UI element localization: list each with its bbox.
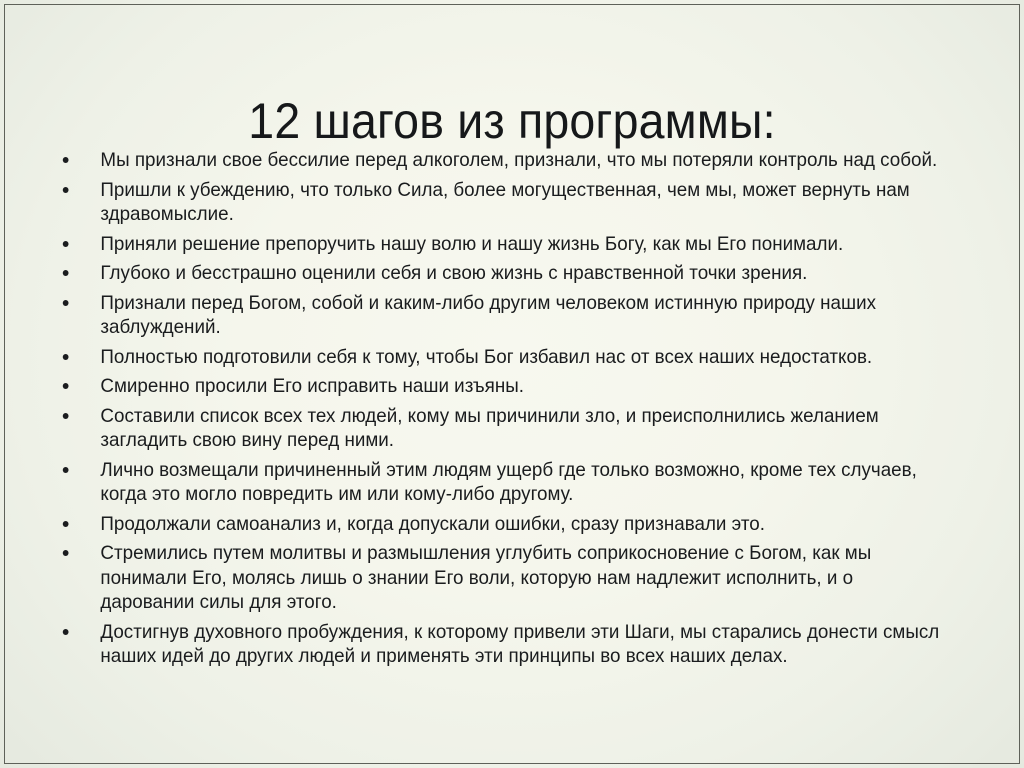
bullet-point-icon <box>63 241 69 247</box>
list-item-text: Лично возмещали причиненный этим людям у… <box>100 458 940 507</box>
list-item-text: Смиренно просили Его исправить наши изъя… <box>100 374 940 399</box>
bullet-point-icon <box>63 413 69 419</box>
list-item: Мы признали свое бессилие перед алкоголе… <box>56 148 940 173</box>
list-item: Полностью подготовили себя к тому, чтобы… <box>56 345 940 370</box>
list-item-text: Достигнув духовного пробуждения, к котор… <box>100 620 940 669</box>
list-item: Глубоко и бесстрашно оценили себя и свою… <box>56 261 940 286</box>
bullet-point-icon <box>63 187 69 193</box>
list-item: Стремились путем молитвы и размышления у… <box>56 541 940 615</box>
twelve-steps-list: Мы признали свое бессилие перед алкоголе… <box>56 148 972 669</box>
bullet-point-icon <box>63 270 69 276</box>
list-item: Признали перед Богом, собой и каким-либо… <box>56 291 940 340</box>
bullet-point-icon <box>63 629 69 635</box>
bullet-point-icon <box>63 300 69 306</box>
list-item: Составили список всех тех людей, кому мы… <box>56 404 940 453</box>
presentation-slide: 12 шагов из программы: Мы признали свое … <box>0 0 1024 768</box>
list-item: Приняли решение препоручить нашу волю и … <box>56 232 940 257</box>
list-item: Пришли к убеждению, что только Сила, бол… <box>56 178 940 227</box>
list-item: Достигнув духовного пробуждения, к котор… <box>56 620 940 669</box>
list-item-text: Признали перед Богом, собой и каким-либо… <box>100 291 940 340</box>
bullet-point-icon <box>63 467 69 473</box>
list-item-text: Приняли решение препоручить нашу волю и … <box>100 232 940 257</box>
list-item-text: Глубоко и бесстрашно оценили себя и свою… <box>100 261 940 286</box>
bullet-point-icon <box>63 521 69 527</box>
bullet-point-icon <box>63 550 69 556</box>
list-item-text: Мы признали свое бессилие перед алкоголе… <box>100 148 940 173</box>
list-item: Продолжали самоанализ и, когда допускали… <box>56 512 940 537</box>
bullet-point-icon <box>63 383 69 389</box>
list-item-text: Стремились путем молитвы и размышления у… <box>100 541 940 615</box>
list-item-text: Продолжали самоанализ и, когда допускали… <box>100 512 940 537</box>
bullet-point-icon <box>63 354 69 360</box>
list-item-text: Полностью подготовили себя к тому, чтобы… <box>100 345 940 370</box>
list-item-text: Пришли к убеждению, что только Сила, бол… <box>100 178 940 227</box>
list-item-text: Составили список всех тех людей, кому мы… <box>100 404 940 453</box>
list-item: Лично возмещали причиненный этим людям у… <box>56 458 940 507</box>
slide-title: 12 шагов из программы: <box>36 92 988 150</box>
list-item: Смиренно просили Его исправить наши изъя… <box>56 374 940 399</box>
bullet-point-icon <box>63 157 69 163</box>
